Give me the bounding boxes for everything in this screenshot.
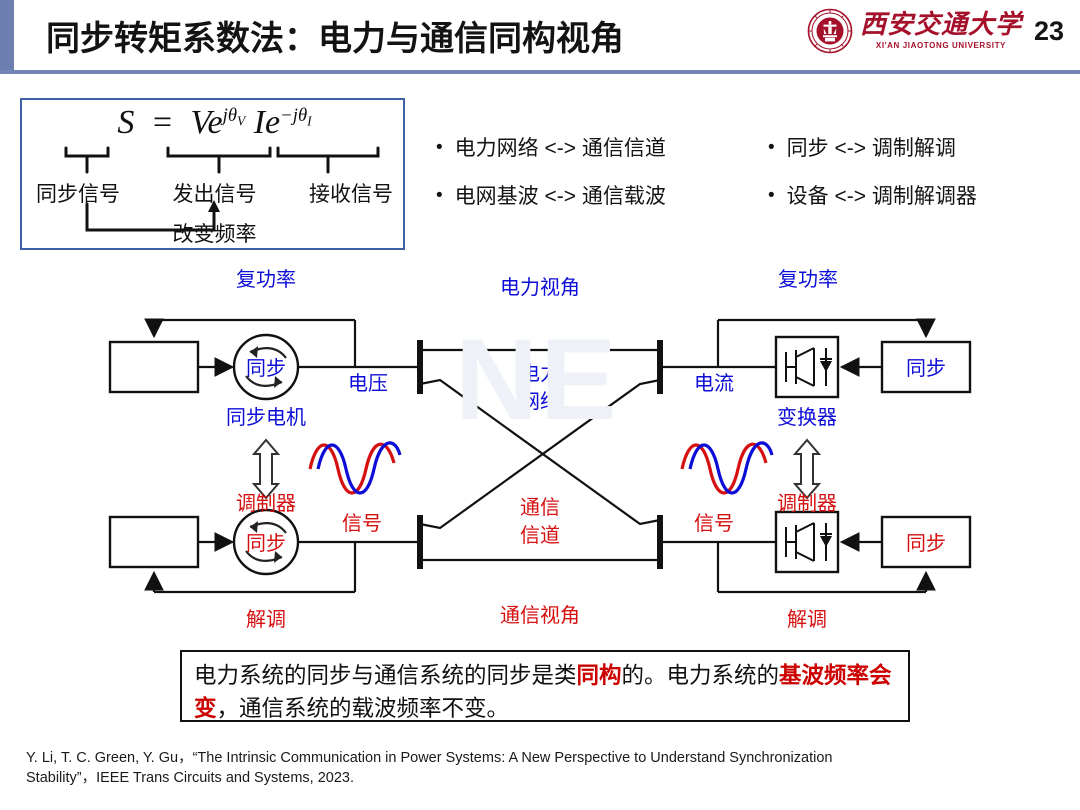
label-demod-left: 解调 — [246, 608, 286, 631]
bullet-item-3: • 设备 <-> 调制解调器 — [768, 180, 977, 210]
label-bottom-right-block: 同步 — [906, 532, 946, 555]
diode-bottom — [820, 536, 832, 547]
label-demod-right: 解调 — [787, 608, 827, 631]
waveform-left — [310, 443, 400, 493]
logo-name-cn: 西安交通大学 — [860, 12, 1022, 38]
formula-box: S = VejθV Ie−jθI 同步信号 发出信号 — [20, 98, 405, 250]
bullet-label-1: 电网基波 <-> 通信载波 — [455, 180, 666, 210]
citation-line-2: Stability”，IEEE Trans Circuits and Syste… — [26, 768, 1056, 788]
label-voltage: 电压 — [348, 372, 388, 395]
bullet-dot-icon: • — [436, 138, 443, 157]
formula-expression: S = VejθV Ie−jθI — [22, 104, 407, 142]
bullet-item-2: • 同步 <-> 调制解调 — [768, 132, 956, 162]
label-comm-channel-1: 通信 — [520, 496, 560, 519]
page-number: 23 — [1034, 16, 1064, 47]
label-power-view: 电力视角 — [500, 276, 580, 299]
bullet-dot-icon: • — [436, 186, 443, 205]
conclusion-part-1: 电力系统的同步与通信系统的同步是类 — [194, 663, 577, 688]
label-top-left-feedback: 复功率 — [236, 268, 296, 291]
bullet-label-0: 电力网络 <-> 通信信道 — [455, 132, 666, 162]
formula-received-term: Ie−jθI — [254, 104, 312, 141]
header-divider-rule — [0, 70, 1080, 74]
formula-equals: = — [143, 104, 182, 141]
bullet-item-1: • 电网基波 <-> 通信载波 — [436, 180, 666, 210]
formula-label-sync: 同步信号 — [36, 178, 120, 208]
label-comm-channel-2: 信道 — [520, 524, 560, 547]
label-top-right-block: 同步 — [906, 357, 946, 380]
bullet-list: • 电力网络 <-> 通信信道 • 电网基波 <-> 通信载波 • 同步 <->… — [428, 128, 1068, 228]
bidirectional-arrow-right — [795, 440, 819, 498]
logo-name-en: XI'AN JIAOTONG UNIVERSITY — [876, 41, 1006, 50]
label-top-right-feedback: 复功率 — [778, 268, 838, 291]
diode-top — [820, 361, 832, 372]
bullet-label-2: 同步 <-> 调制解调 — [787, 132, 956, 162]
label-top-left-block: 同步 — [246, 357, 286, 380]
label-signal-right: 信号 — [694, 512, 734, 535]
waveform-right — [682, 443, 772, 493]
bullet-dot-icon: • — [768, 186, 775, 205]
slide-root: 同步转矩系数法：电力与通信同构视角 — [0, 0, 1080, 810]
bullet-label-3: 设备 <-> 调制解调器 — [787, 180, 977, 210]
label-modulator-left: 调制器 — [236, 492, 296, 515]
conclusion-highlight-1: 同构 — [577, 663, 622, 688]
watermark-text: NE — [455, 314, 619, 446]
conclusion-text: 电力系统的同步与通信系统的同步是类同构的。电力系统的基波频率会变，通信系统的载波… — [194, 659, 896, 725]
conclusion-part-2: 的。电力系统的 — [622, 663, 780, 688]
label-bottom-left-block: 同步 — [246, 532, 286, 555]
label-modulator-right: 调制器 — [777, 492, 837, 515]
header-accent-bar — [0, 0, 14, 72]
page-title: 同步转矩系数法：电力与通信同构视角 — [46, 11, 624, 60]
label-signal-left: 信号 — [342, 512, 382, 535]
formula-sent-term: VejθV — [191, 104, 246, 141]
label-comm-view: 通信视角 — [500, 604, 580, 627]
formula-label-change-frequency: 改变频率 — [22, 218, 407, 248]
bidirectional-arrow-left — [254, 440, 278, 498]
formula-label-send: 发出信号 — [173, 178, 257, 208]
conclusion-part-3: ，通信系统的载波频率不变。 — [217, 696, 510, 721]
label-converter: 变换器 — [777, 406, 837, 429]
system-diagram: NE — [0, 262, 1080, 642]
xjtu-seal-icon — [807, 8, 853, 54]
citation-line-1: Y. Li, T. C. Green, Y. Gu，“The Intrinsic… — [26, 748, 1056, 768]
label-sync-machine: 同步电机 — [226, 406, 306, 429]
label-current: 电流 — [694, 372, 734, 395]
university-logo: 西安交通大学 XI'AN JIAOTONG UNIVERSITY 23 — [807, 8, 1064, 54]
formula-term-labels: 同步信号 发出信号 接收信号 — [22, 178, 407, 208]
formula-label-receive: 接收信号 — [309, 178, 393, 208]
citation: Y. Li, T. C. Green, Y. Gu，“The Intrinsic… — [26, 748, 1056, 788]
bullet-item-0: • 电力网络 <-> 通信信道 — [436, 132, 666, 162]
logo-text: 西安交通大学 XI'AN JIAOTONG UNIVERSITY — [860, 12, 1022, 50]
bullet-dot-icon: • — [768, 138, 775, 157]
formula-S: S — [117, 104, 134, 141]
conclusion-box: 电力系统的同步与通信系统的同步是类同构的。电力系统的基波频率会变，通信系统的载波… — [180, 650, 910, 722]
